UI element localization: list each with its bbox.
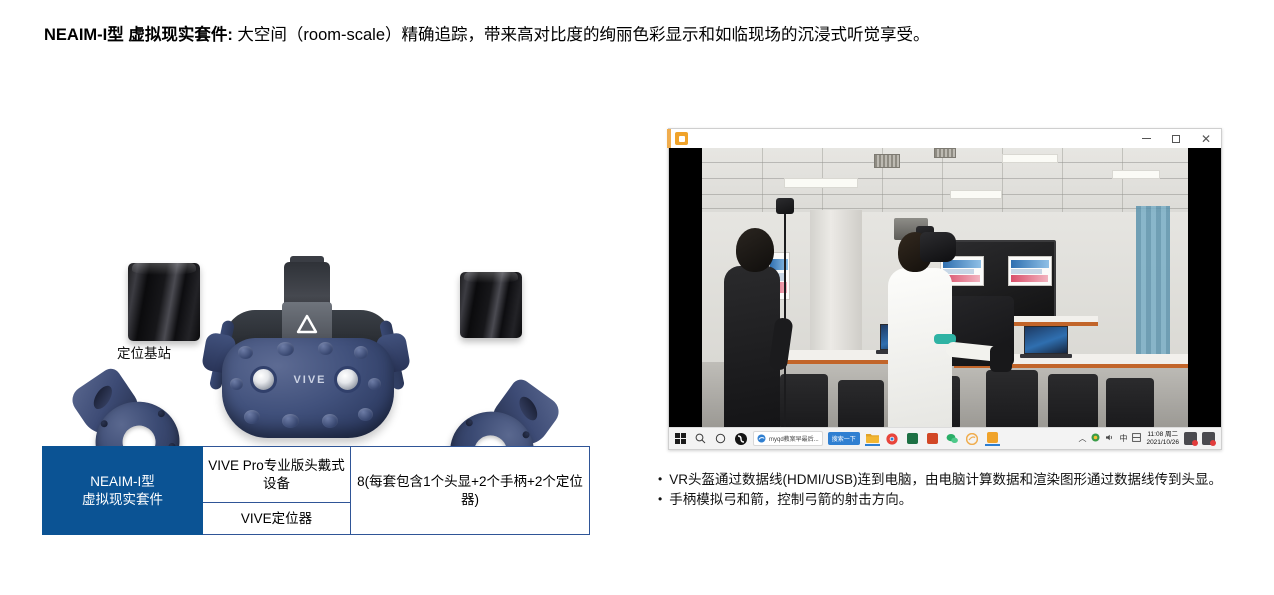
powerpoint-icon[interactable] (925, 431, 940, 446)
bullet-list: • VR头盔通过数据线(HDMI/USB)连到电脑，由电脑计算数据和渲染图形通过… (658, 470, 1258, 510)
headset-sensor-dot (354, 346, 368, 359)
headset-body: VIVE (222, 338, 394, 438)
headset-sensor-dot (318, 342, 333, 355)
page-title-bold: NEAIM-I型 虚拟现实套件: (44, 26, 233, 44)
product-name-line2: 虚拟现实套件 (45, 491, 200, 509)
photo-laptop-base (1020, 354, 1072, 358)
ceiling-light (784, 178, 858, 188)
chrome-icon[interactable] (885, 431, 900, 446)
base-station-image-right (460, 272, 522, 338)
controller-sensor-dot (522, 431, 530, 439)
vr-product-figure: VIVE 定位基站 VR头盔 手柄控制器 (40, 120, 600, 430)
headset-lens-right (334, 366, 361, 393)
figure-label-base-station: 定位基站 (117, 342, 171, 362)
media-player-icon[interactable] (985, 431, 1000, 446)
taskbar-search-chip[interactable]: 搜索一下 (828, 432, 860, 445)
table-cell-item-1: VIVE Pro专业版头戴式设备 (203, 447, 351, 503)
edge-icon (757, 434, 766, 443)
edge-chip-label: myqd教案早最后... (769, 434, 819, 443)
ime-panel-icon[interactable] (1132, 433, 1141, 444)
app-icon-s[interactable] (733, 431, 748, 446)
ceiling-vent (874, 154, 900, 168)
controller-trackpad (516, 394, 541, 424)
headset-sensor-dot (282, 414, 299, 428)
system-tray[interactable]: ︿ 中 11:08 周二 2021/10/26 (1078, 431, 1217, 446)
headset-sensor-dot (244, 410, 260, 424)
vive-wordmark: VIVE (282, 374, 338, 386)
excel-icon[interactable] (905, 431, 920, 446)
photo-lighthouse-tracker (776, 198, 794, 214)
ceiling-vent (934, 148, 956, 158)
task-view-icon[interactable] (713, 431, 728, 446)
titlebar-accent (667, 129, 671, 148)
photo-person-right (888, 268, 952, 428)
photo-person-right-controller (990, 346, 1012, 372)
headset-sensor-dot (230, 378, 243, 390)
window-title-bar[interactable]: ✕ (669, 129, 1221, 148)
clock-time: 11:08 周二 (1147, 431, 1178, 438)
maximize-button[interactable] (1161, 129, 1191, 148)
ceiling-light (950, 190, 1002, 199)
list-item: • 手柄模拟弓和箭，控制弓箭的射击方向。 (658, 490, 1258, 509)
photo-person-left-head (736, 228, 774, 272)
vr-headset-image: VIVE (218, 262, 398, 462)
search-icon[interactable] (693, 431, 708, 446)
controller-trackpad (90, 383, 116, 412)
bullet-text-2: 手柄模拟弓和箭，控制弓箭的射击方向。 (669, 490, 1258, 509)
photo-ceiling (702, 148, 1188, 212)
photo-chair (1048, 374, 1098, 428)
photo-wall-column (810, 210, 862, 362)
table-cell-item-2: VIVE定位器 (203, 503, 351, 535)
bullet-dot-icon: • (658, 490, 662, 508)
base-station-image-left (128, 263, 200, 341)
bullet-text-1: VR头盔通过数据线(HDMI/USB)连到电脑，由电脑计算数据和渲染图形通过数据… (669, 470, 1258, 489)
minimize-button[interactable] (1131, 129, 1161, 148)
taskbar-edge-window-chip[interactable]: myqd教案早最后... (753, 431, 823, 446)
photo-person-right-headset (920, 232, 956, 262)
windows-start-icon[interactable] (673, 431, 688, 446)
photo-curtain (1136, 206, 1170, 356)
headset-sensor-dot (322, 414, 338, 428)
notification-badge-icon-2[interactable] (1202, 432, 1215, 445)
controller-sensor-dot (465, 419, 473, 427)
media-player-icon (675, 132, 688, 145)
video-frame-photo (702, 148, 1188, 428)
page-title: NEAIM-I型 虚拟现实套件: 大空间（room-scale）精确追踪，带来高… (44, 24, 1234, 46)
window-controls[interactable]: ✕ (1131, 129, 1221, 148)
photo-chair (780, 374, 828, 428)
video-player-window[interactable]: ✕ (668, 128, 1222, 450)
photo-chair (1106, 378, 1154, 428)
bullet-dot-icon: • (658, 470, 662, 488)
file-explorer-icon[interactable] (865, 431, 880, 446)
photo-chair (986, 370, 1038, 428)
notification-badge-icon-1[interactable] (1184, 432, 1197, 445)
headset-sensor-dot (358, 408, 373, 421)
page-title-normal: 大空间（room-scale）精确追踪，带来高对比度的绚丽色彩显示和如临现场的沉… (233, 26, 930, 44)
headset-sensor-dot (368, 378, 381, 390)
list-item: • VR头盔通过数据线(HDMI/USB)连到电脑，由电脑计算数据和渲染图形通过… (658, 470, 1258, 489)
headset-sensor-dot (277, 342, 294, 356)
browser-icon[interactable] (965, 431, 980, 446)
controller-sensor-dot (100, 420, 108, 428)
windows-taskbar[interactable]: myqd教案早最后... 搜索一下 ︿ (669, 427, 1221, 449)
photo-poster (1008, 256, 1052, 286)
headset-sensor-dot (238, 346, 253, 359)
spec-table: NEAIM-I型 虚拟现实套件 VIVE Pro专业版头戴式设备 8(每套包含1… (42, 446, 590, 535)
ceiling-light (1002, 154, 1058, 163)
table-row: NEAIM-I型 虚拟现实套件 VIVE Pro专业版头戴式设备 8(每套包含1… (43, 447, 590, 503)
taskbar-clock[interactable]: 11:08 周二 2021/10/26 (1146, 431, 1179, 446)
clock-date: 2021/10/26 (1146, 439, 1179, 446)
wechat-icon[interactable] (945, 431, 960, 446)
product-name-line1: NEAIM-I型 (45, 473, 200, 491)
ime-chinese-icon[interactable]: 中 (1119, 433, 1127, 444)
photo-chair (838, 380, 884, 428)
video-stage[interactable] (669, 148, 1221, 428)
network-icon[interactable] (1091, 433, 1100, 444)
chevron-up-icon[interactable]: ︿ (1078, 433, 1086, 444)
headset-lens-left (250, 366, 277, 393)
ceiling-light (1112, 170, 1160, 179)
photo-laptop-screen (1024, 326, 1068, 354)
controller-sensor-dot (157, 410, 165, 418)
close-button[interactable]: ✕ (1191, 129, 1221, 148)
table-cell-quantity: 8(每套包含1个头显+2个手柄+2个定位器) (351, 447, 590, 535)
volume-icon[interactable] (1105, 433, 1114, 444)
table-cell-product-name: NEAIM-I型 虚拟现实套件 (43, 447, 203, 535)
